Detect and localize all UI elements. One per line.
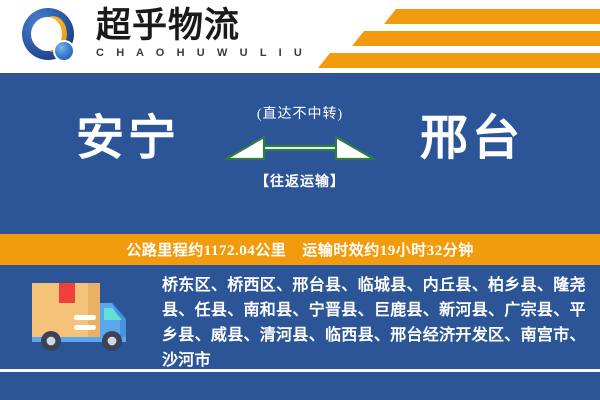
banner-header: 超乎物流 C H A O H U W U L I U [0,0,600,73]
duration-text: 运输时效约19小时32分钟 [302,239,474,260]
decorative-stripes [300,6,600,68]
route-panel: 安宁 (直达不中转) 【往返运输】 邢台 [0,73,600,234]
stripe-3 [318,53,600,68]
logo-sphere-icon [53,40,75,62]
distance-text: 公路里程约1172.04公里 [126,239,286,260]
roundtrip-note: 【往返运输】 [224,171,376,191]
banner-footer [0,372,600,400]
brand-name-cn: 超乎物流 [96,7,296,45]
delivery-truck-icon [24,277,136,353]
brand-name-en: C H A O H U W U L I U [96,47,296,59]
bidirectional-arrow-icon [224,129,376,169]
logistics-route-banner: 超乎物流 C H A O H U W U L I U 安宁 (直达不中转) 【往… [0,0,600,400]
coverage-panel: 桥东区、桥西区、邢台县、临城县、内丘县、柏乡县、隆尧县、任县、南和县、宁晋县、巨… [0,265,600,369]
route-info-bar: 公路里程约1172.04公里 运输时效约19小时32分钟 [0,234,600,265]
destination-city: 邢台 [372,111,572,167]
brand-block: 超乎物流 C H A O H U W U L I U [96,7,296,59]
coverage-areas-text: 桥东区、桥西区、邢台县、临城县、内丘县、柏乡县、隆尧县、任县、南和县、宁晋县、巨… [162,273,586,373]
stripe-1 [384,9,600,24]
origin-city: 安宁 [28,111,228,167]
stripe-2 [352,31,600,46]
direct-route-note: (直达不中转) [224,103,376,123]
route-middle-block: (直达不中转) 【往返运输】 [224,103,376,191]
chaohu-logistics-logo-icon [22,8,82,66]
